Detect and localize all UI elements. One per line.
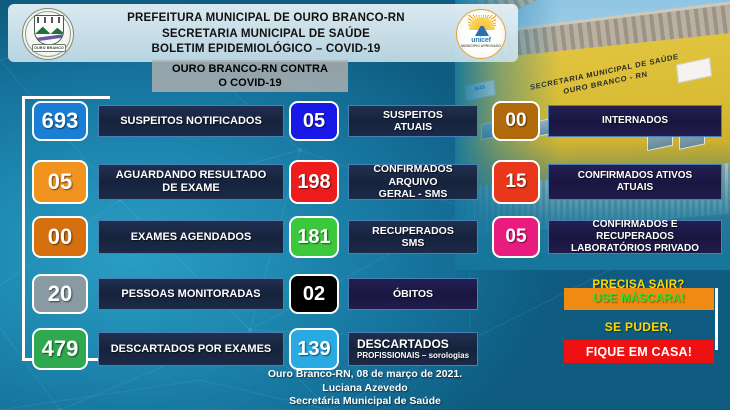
stat-label-text: CONFIRMADOS ERECUPERADOSLABORATÓRIOS PRI… [571, 219, 699, 254]
page-title-line2: SECRETARIA MUNICIPAL DE SAÚDE [86, 27, 446, 43]
footer-signature: Ouro Branco-RN, 08 de março de 2021. Luc… [150, 368, 580, 409]
subtitle-line2: O COVID-19 [172, 76, 328, 90]
footer-name: Luciana Azevedo [150, 382, 580, 396]
unicef-wordmark: unicef [457, 37, 505, 44]
stat-label-text: INTERNADOS [602, 115, 668, 127]
page-title-line3: BOLETIM EPIDEMIOLÓGICO – COVID-19 [86, 42, 446, 58]
crest-top-band [37, 17, 63, 23]
header-banner: OURO BRANCO PREFEITURA MUNICIPAL DE OURO… [8, 4, 518, 62]
stat-label-plate: CONFIRMADOS ATIVOSATUAIS [548, 164, 722, 200]
header-title-block: PREFEITURA MUNICIPAL DE OURO BRANCO-RN S… [86, 11, 446, 58]
stat-label-plate: CONFIRMADOS ERECUPERADOSLABORATÓRIOS PRI… [548, 220, 722, 254]
stat-value-chip: 00 [492, 101, 540, 141]
campaign-subtitle: OURO BRANCO-RN CONTRA O COVID-19 [152, 60, 348, 92]
stat-row: 00INTERNADOS [0, 101, 730, 141]
stat-label-text: CONFIRMADOS ATIVOSATUAIS [578, 170, 692, 194]
crest-ribbon-text: OURO BRANCO [33, 45, 65, 51]
crest-ribbon: OURO BRANCO [32, 44, 66, 52]
stat-label-plate: INTERNADOS [548, 105, 722, 137]
stat-label-plate: DESCARTADOSPROFISSIONAIS – sorologias [348, 332, 478, 366]
unicef-subtext: MUNICÍPIO APROVADO [457, 44, 505, 48]
stat-row: 05CONFIRMADOS ERECUPERADOSLABORATÓRIOS P… [0, 216, 730, 258]
stat-label-plate: ÓBITOS [348, 278, 478, 310]
page-title-line1: PREFEITURA MUNICIPAL DE OURO BRANCO-RN [86, 11, 446, 27]
crest-shield [34, 15, 64, 45]
municipality-crest-icon: OURO BRANCO [22, 8, 74, 60]
footer-date: Ouro Branco-RN, 08 de março de 2021. [150, 368, 580, 382]
frame-top-edge [22, 96, 110, 99]
footer-role: Secretária Municipal de Saúde [150, 395, 580, 409]
advice-mask-banner: USE MÁSCARA! [564, 288, 714, 310]
stat-label-text: ÓBITOS [393, 288, 433, 300]
crest-hills [35, 25, 64, 34]
stat-value-chip: 15 [492, 160, 540, 204]
prevention-advice-block: PRECISA SAIR? USE MÁSCARA! SE PUDER, FIQ… [556, 278, 721, 363]
advice-line2: SE PUDER, [556, 320, 721, 334]
subtitle-line1: OURO BRANCO-RN CONTRA [172, 62, 328, 76]
advice-stay-home-banner: FIQUE EM CASA! [564, 340, 714, 363]
stat-value-chip: 139 [289, 328, 339, 370]
stat-label-text: DESCARTADOSPROFISSIONAIS – sorologias [349, 337, 469, 361]
stat-row: 15CONFIRMADOS ATIVOSATUAIS [0, 160, 730, 204]
stat-value-chip: 05 [492, 216, 540, 258]
unicef-seal-icon: unicef MUNICÍPIO APROVADO [456, 9, 506, 59]
stat-value-chip: 02 [289, 274, 339, 314]
